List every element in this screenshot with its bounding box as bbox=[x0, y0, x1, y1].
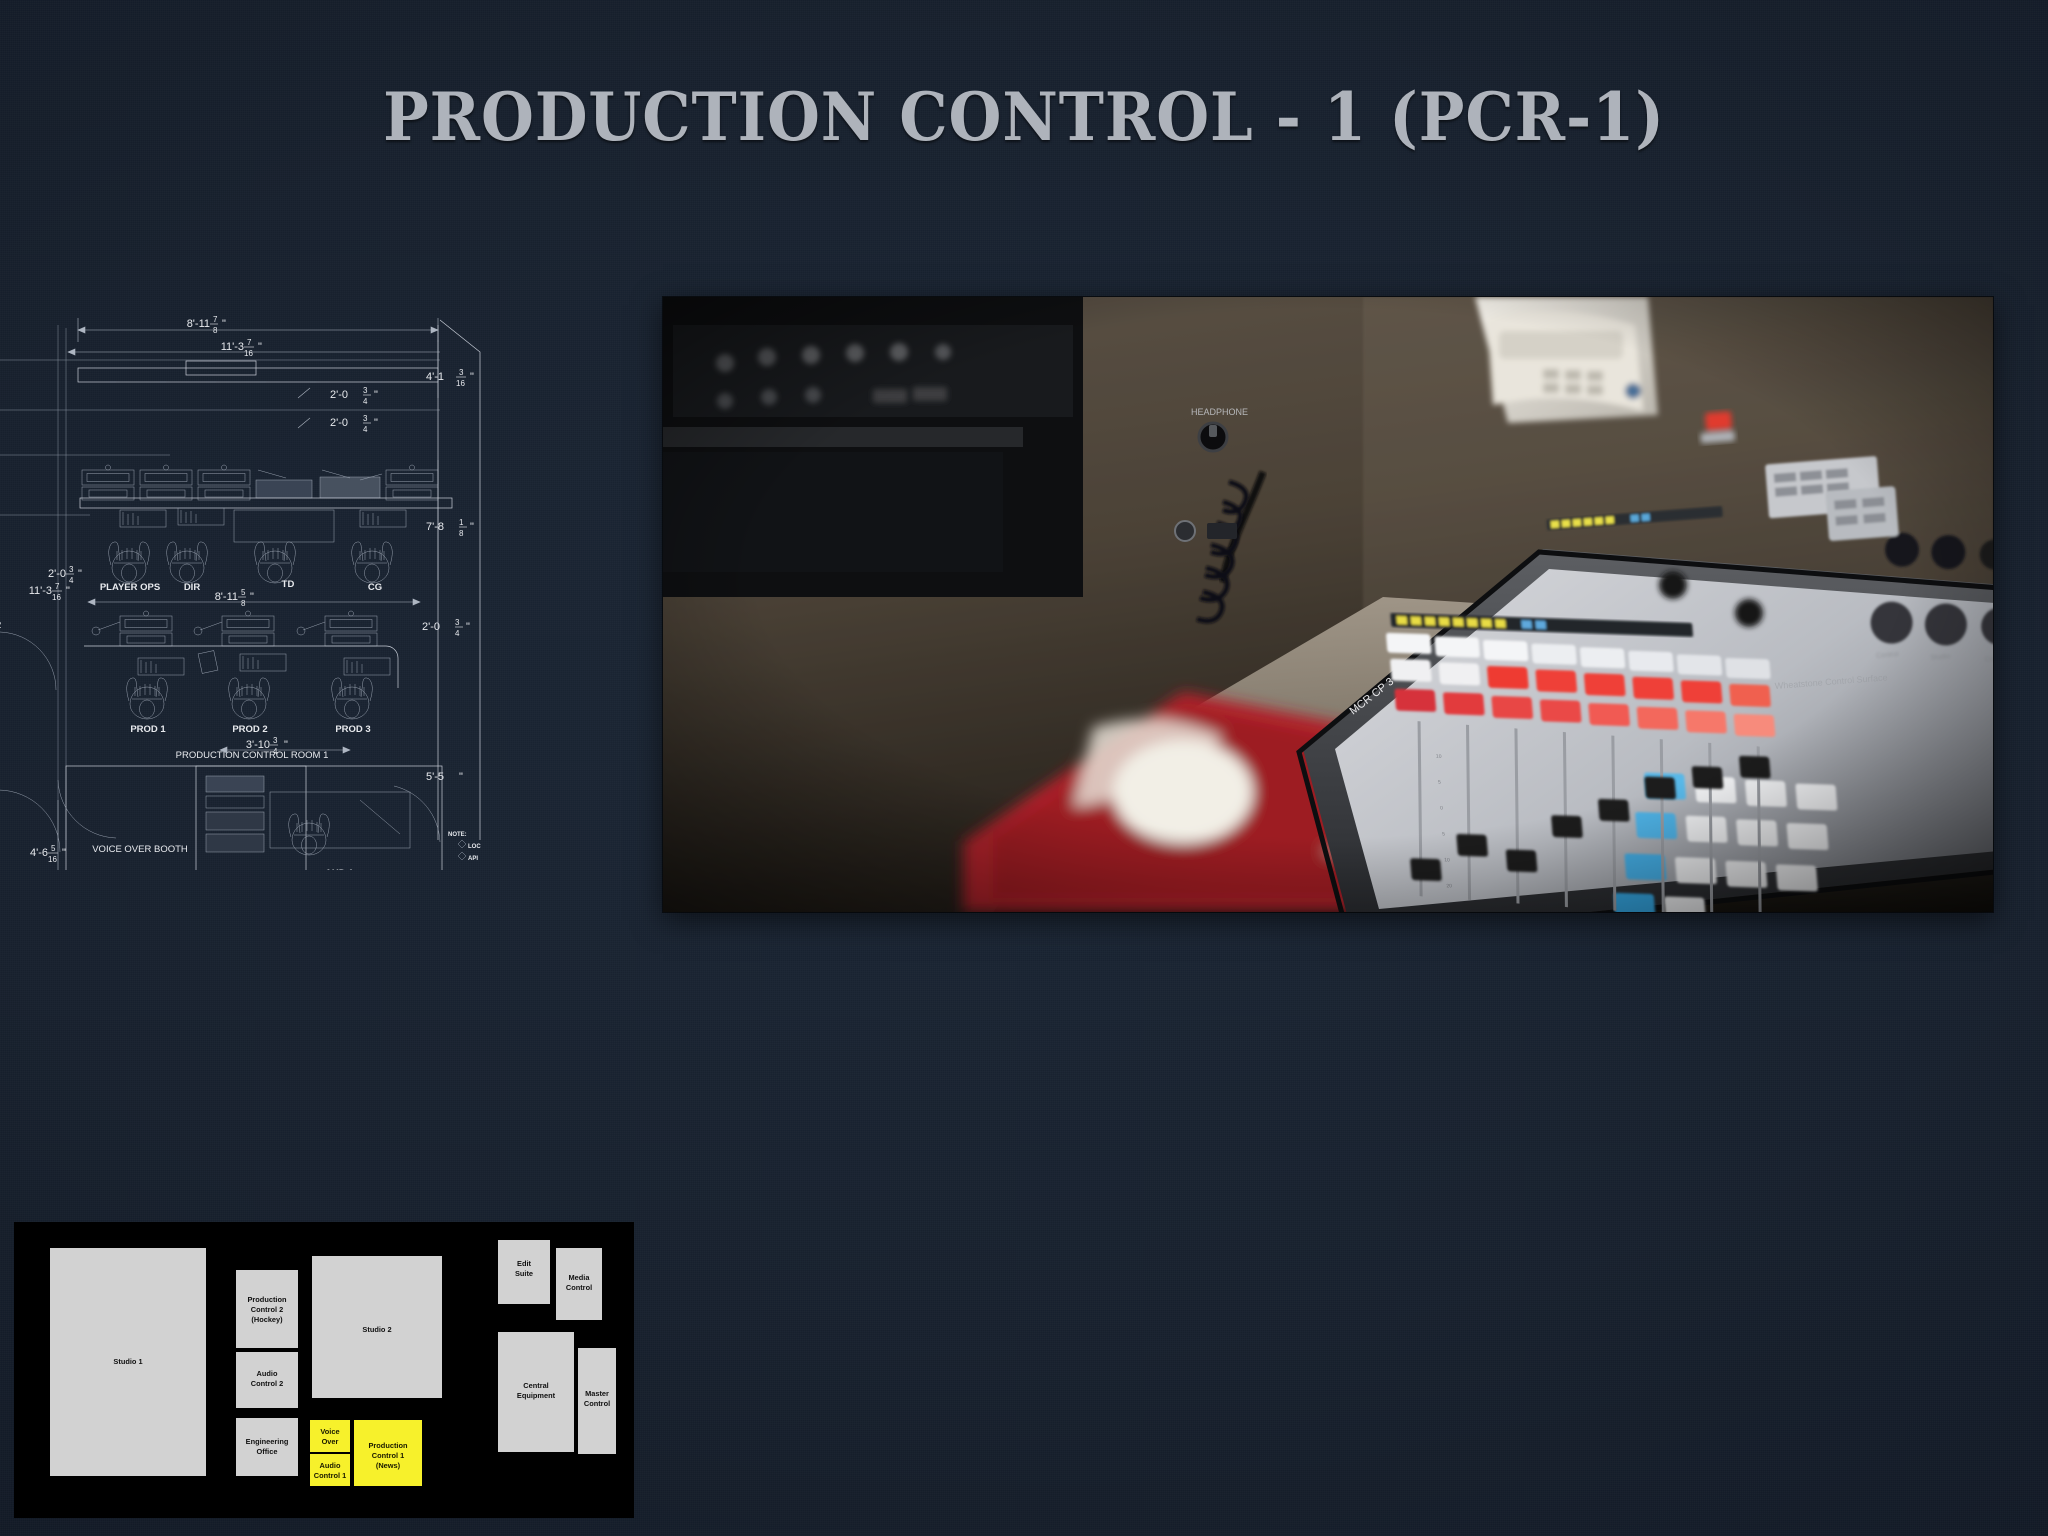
svg-text:Control 2: Control 2 bbox=[251, 1379, 283, 1388]
svg-text:Over: Over bbox=[322, 1437, 339, 1446]
svg-text:(Hockey): (Hockey) bbox=[251, 1315, 283, 1324]
svg-text:2'-0: 2'-0 bbox=[422, 621, 440, 633]
room-label: PRODUCTION CONTROL ROOM 1 bbox=[176, 750, 329, 761]
svg-text:2'-0: 2'-0 bbox=[330, 389, 348, 401]
keymap-room-media-control: Media Control bbox=[556, 1248, 602, 1320]
svg-text:Equipment: Equipment bbox=[517, 1391, 556, 1400]
svg-text:7: 7 bbox=[213, 315, 218, 324]
svg-text:": " bbox=[374, 389, 378, 401]
svg-text:": " bbox=[470, 371, 474, 383]
svg-text:8: 8 bbox=[241, 599, 246, 608]
svg-text:": " bbox=[222, 318, 226, 330]
svg-text:3: 3 bbox=[455, 618, 460, 627]
svg-text:8: 8 bbox=[213, 326, 218, 335]
page-title: PRODUCTION CONTROL - 1 (PCR-1) bbox=[82, 78, 1966, 156]
note-item: LOC bbox=[468, 844, 481, 850]
svg-text:NOTE:: NOTE: bbox=[448, 832, 467, 838]
svg-text:Studio 2: Studio 2 bbox=[362, 1325, 391, 1334]
svg-text:5: 5 bbox=[51, 844, 56, 853]
svg-text:": " bbox=[459, 771, 463, 783]
svg-text:1: 1 bbox=[459, 518, 464, 527]
svg-text:4: 4 bbox=[363, 397, 368, 406]
svg-text:": " bbox=[466, 621, 470, 633]
svg-text:3: 3 bbox=[363, 386, 368, 395]
room-label: VOICE OVER BOOTH bbox=[92, 844, 188, 855]
svg-text:Control 1: Control 1 bbox=[372, 1451, 404, 1460]
svg-text:11'-3: 11'-3 bbox=[29, 585, 52, 597]
svg-text:4: 4 bbox=[273, 747, 278, 756]
svg-text:4'-6: 4'-6 bbox=[30, 847, 48, 859]
station-label: CG bbox=[368, 582, 382, 593]
keymap-room-production-control-1: Production Control 1 (News) bbox=[354, 1420, 422, 1486]
keymap-room-central-equipment: Central Equipment bbox=[498, 1332, 574, 1452]
svg-text:": " bbox=[66, 585, 70, 597]
svg-text:": " bbox=[470, 521, 474, 533]
svg-text:4: 4 bbox=[455, 629, 460, 638]
svg-text:Audio: Audio bbox=[257, 1369, 278, 1378]
svg-text:Edit: Edit bbox=[517, 1259, 531, 1268]
svg-text:Production: Production bbox=[368, 1441, 407, 1450]
room-label: N STUDIO 2 bbox=[0, 620, 1, 631]
svg-text:Audio: Audio bbox=[320, 1461, 341, 1470]
svg-text:16: 16 bbox=[456, 379, 465, 388]
svg-text:3: 3 bbox=[363, 414, 368, 423]
svg-text:4'-1: 4'-1 bbox=[426, 371, 444, 383]
svg-text:8'-11: 8'-11 bbox=[187, 318, 210, 330]
svg-text:Control: Control bbox=[584, 1399, 610, 1408]
svg-text:Central: Central bbox=[523, 1381, 548, 1390]
svg-text:3: 3 bbox=[459, 368, 464, 377]
svg-text:": " bbox=[284, 739, 288, 751]
key-map: Studio 1 Production Control 2 (Hockey) A… bbox=[14, 1222, 634, 1518]
keymap-room-audio-control-1: Audio Control 1 bbox=[310, 1454, 350, 1486]
station-label: PROD 3 bbox=[335, 724, 370, 735]
svg-text:Control 2: Control 2 bbox=[251, 1305, 283, 1314]
floor-plan: 8'-11 7 8 " 11'-3 7 16 " bbox=[0, 280, 590, 870]
svg-text:16: 16 bbox=[52, 593, 61, 602]
svg-text:3'-10: 3'-10 bbox=[246, 739, 270, 751]
keymap-room-studio-2: Studio 2 bbox=[312, 1256, 442, 1398]
keymap-room-voice-over: Voice Over bbox=[310, 1420, 350, 1452]
station-label: TD bbox=[282, 579, 295, 590]
keymap-room-audio-control-2: Audio Control 2 bbox=[236, 1352, 298, 1408]
svg-text:7: 7 bbox=[247, 338, 252, 347]
note-item: API bbox=[468, 856, 478, 862]
svg-text:2'-0: 2'-0 bbox=[330, 417, 348, 429]
svg-text:": " bbox=[374, 417, 378, 429]
station-label: PROD 1 bbox=[130, 724, 166, 735]
svg-text:8: 8 bbox=[459, 529, 464, 538]
svg-text:Voice: Voice bbox=[320, 1427, 339, 1436]
station-label: DIR bbox=[184, 582, 201, 593]
svg-text:Office: Office bbox=[257, 1447, 278, 1456]
svg-text:Production: Production bbox=[247, 1295, 286, 1304]
station-label: PLAYER OPS bbox=[100, 582, 160, 593]
svg-text:11'-3: 11'-3 bbox=[221, 341, 244, 353]
keymap-room-master-control: Master Control bbox=[578, 1348, 616, 1454]
svg-text:Engineering: Engineering bbox=[246, 1437, 289, 1446]
svg-text:(News): (News) bbox=[376, 1461, 401, 1470]
svg-text:AUD 1: AUD 1 bbox=[325, 868, 354, 870]
svg-text:Media: Media bbox=[569, 1273, 591, 1282]
svg-text:Control 1: Control 1 bbox=[314, 1471, 346, 1480]
svg-text:7'-8: 7'-8 bbox=[426, 521, 444, 533]
svg-text:4: 4 bbox=[69, 576, 74, 585]
svg-text:": " bbox=[78, 568, 82, 580]
keymap-room-engineering-office: Engineering Office bbox=[236, 1418, 298, 1476]
svg-text:Control: Control bbox=[566, 1283, 592, 1292]
svg-text:": " bbox=[258, 341, 262, 353]
svg-text:3: 3 bbox=[69, 565, 74, 574]
keymap-room-studio-1: Studio 1 bbox=[50, 1248, 206, 1476]
station-label: PROD 2 bbox=[232, 724, 267, 735]
svg-text:8'-11: 8'-11 bbox=[215, 591, 238, 603]
svg-text:Master: Master bbox=[585, 1389, 609, 1398]
svg-text:16: 16 bbox=[244, 349, 253, 358]
svg-text:": " bbox=[62, 847, 66, 859]
svg-text:7: 7 bbox=[55, 582, 60, 591]
svg-text:Studio 1: Studio 1 bbox=[113, 1357, 142, 1366]
svg-text:3: 3 bbox=[273, 736, 278, 745]
keymap-room-production-control-2: Production Control 2 (Hockey) bbox=[236, 1270, 298, 1348]
console-photo: HEADPHONE WHEATSTONE MCR C bbox=[663, 297, 1993, 912]
svg-text:5: 5 bbox=[241, 588, 246, 597]
svg-text:": " bbox=[250, 591, 254, 603]
svg-text:4: 4 bbox=[363, 425, 368, 434]
keymap-room-edit-suite: Edit Suite bbox=[498, 1240, 550, 1304]
svg-text:5'-5: 5'-5 bbox=[426, 771, 444, 783]
svg-text:16: 16 bbox=[48, 855, 57, 864]
svg-text:Suite: Suite bbox=[515, 1269, 533, 1278]
svg-text:2'-0: 2'-0 bbox=[48, 568, 66, 580]
